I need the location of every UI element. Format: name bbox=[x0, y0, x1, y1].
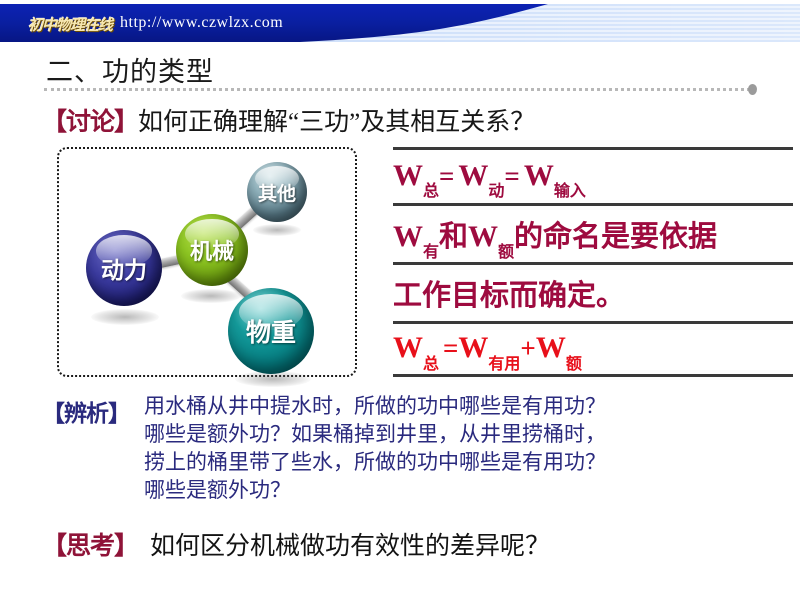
sphere-wuzhong: 物重 bbox=[228, 288, 314, 374]
title-dotted-divider bbox=[44, 88, 750, 94]
analysis-line-3: 捞上的桶里带了些水，所做的功中哪些是有用功？ bbox=[144, 449, 606, 477]
sphere-shadow-jixie bbox=[181, 289, 241, 303]
page-title: 二、功的类型 bbox=[46, 50, 214, 89]
formula-divider-5 bbox=[393, 374, 793, 377]
sphere-label-jixie: 机械 bbox=[190, 234, 234, 266]
formula-panel: W总= W动= W输入 W有和W额的命名是要依据 工作目标而确定。 W总 =W有… bbox=[393, 147, 793, 377]
banner-bottom-edge bbox=[0, 42, 800, 46]
analysis-line-1: 用水桶从井中提水时，所做的功中哪些是有用功？ bbox=[144, 393, 606, 421]
thinking-tag: 【思考】 bbox=[42, 526, 138, 562]
discussion-tag: 【讨论】 bbox=[42, 109, 138, 136]
formula-3-text: 工作目标而确定。 bbox=[393, 272, 625, 314]
sphere-label-dongli: 动力 bbox=[101, 251, 147, 285]
sphere-shadow-dongli bbox=[91, 309, 159, 325]
thinking-text: 如何区分机械做功有效性的差异呢？ bbox=[150, 526, 550, 562]
formula-row-3: 工作目标而确定。 bbox=[393, 265, 793, 321]
sphere-diagram: 其他 机械 动力 物重 bbox=[57, 147, 357, 377]
sphere-jixie: 机械 bbox=[176, 214, 248, 286]
formula-1-expression: W总= W动= W输入 bbox=[393, 159, 586, 194]
formula-row-1: W总= W动= W输入 bbox=[393, 150, 793, 203]
discussion-line: 【讨论】如何正确理解“三功”及其相互关系？ bbox=[42, 102, 535, 138]
sphere-shadow-qita bbox=[253, 224, 301, 236]
divider-end-dot-icon bbox=[748, 84, 757, 95]
site-url-text: http://www.czwlzx.com bbox=[120, 14, 283, 32]
sphere-label-wuzhong: 物重 bbox=[246, 313, 296, 349]
analysis-tag: 【辨析】 bbox=[42, 393, 130, 428]
formula-2-expression: W有和W额的命名是要依据 bbox=[393, 213, 717, 255]
analysis-line-2: 哪些是额外功？如果桶掉到井里，从井里捞桶时， bbox=[144, 421, 606, 449]
sphere-qita: 其他 bbox=[247, 162, 307, 222]
sphere-label-qita: 其他 bbox=[258, 179, 296, 206]
formula-4-expression: W总 =W有用+W额 bbox=[393, 331, 582, 366]
analysis-line-4: 哪些是额外功？ bbox=[144, 477, 606, 505]
thinking-block: 【思考】 如何区分机械做功有效性的差异呢？ bbox=[42, 526, 550, 562]
site-logo-icon: 初中物理在线 bbox=[28, 14, 112, 35]
analysis-body: 用水桶从井中提水时，所做的功中哪些是有用功？ 哪些是额外功？如果桶掉到井里，从井… bbox=[144, 393, 606, 505]
analysis-block: 【辨析】 用水桶从井中提水时，所做的功中哪些是有用功？ 哪些是额外功？如果桶掉到… bbox=[42, 393, 782, 505]
formula-row-2: W有和W额的命名是要依据 bbox=[393, 206, 793, 262]
discussion-text: 如何正确理解“三功”及其相互关系？ bbox=[138, 109, 535, 136]
sphere-dongli: 动力 bbox=[86, 230, 162, 306]
banner-top-edge bbox=[0, 0, 800, 4]
formula-row-4: W总 =W有用+W额 bbox=[393, 324, 793, 374]
site-banner: 初中物理在线 http://www.czwlzx.com bbox=[0, 0, 800, 46]
